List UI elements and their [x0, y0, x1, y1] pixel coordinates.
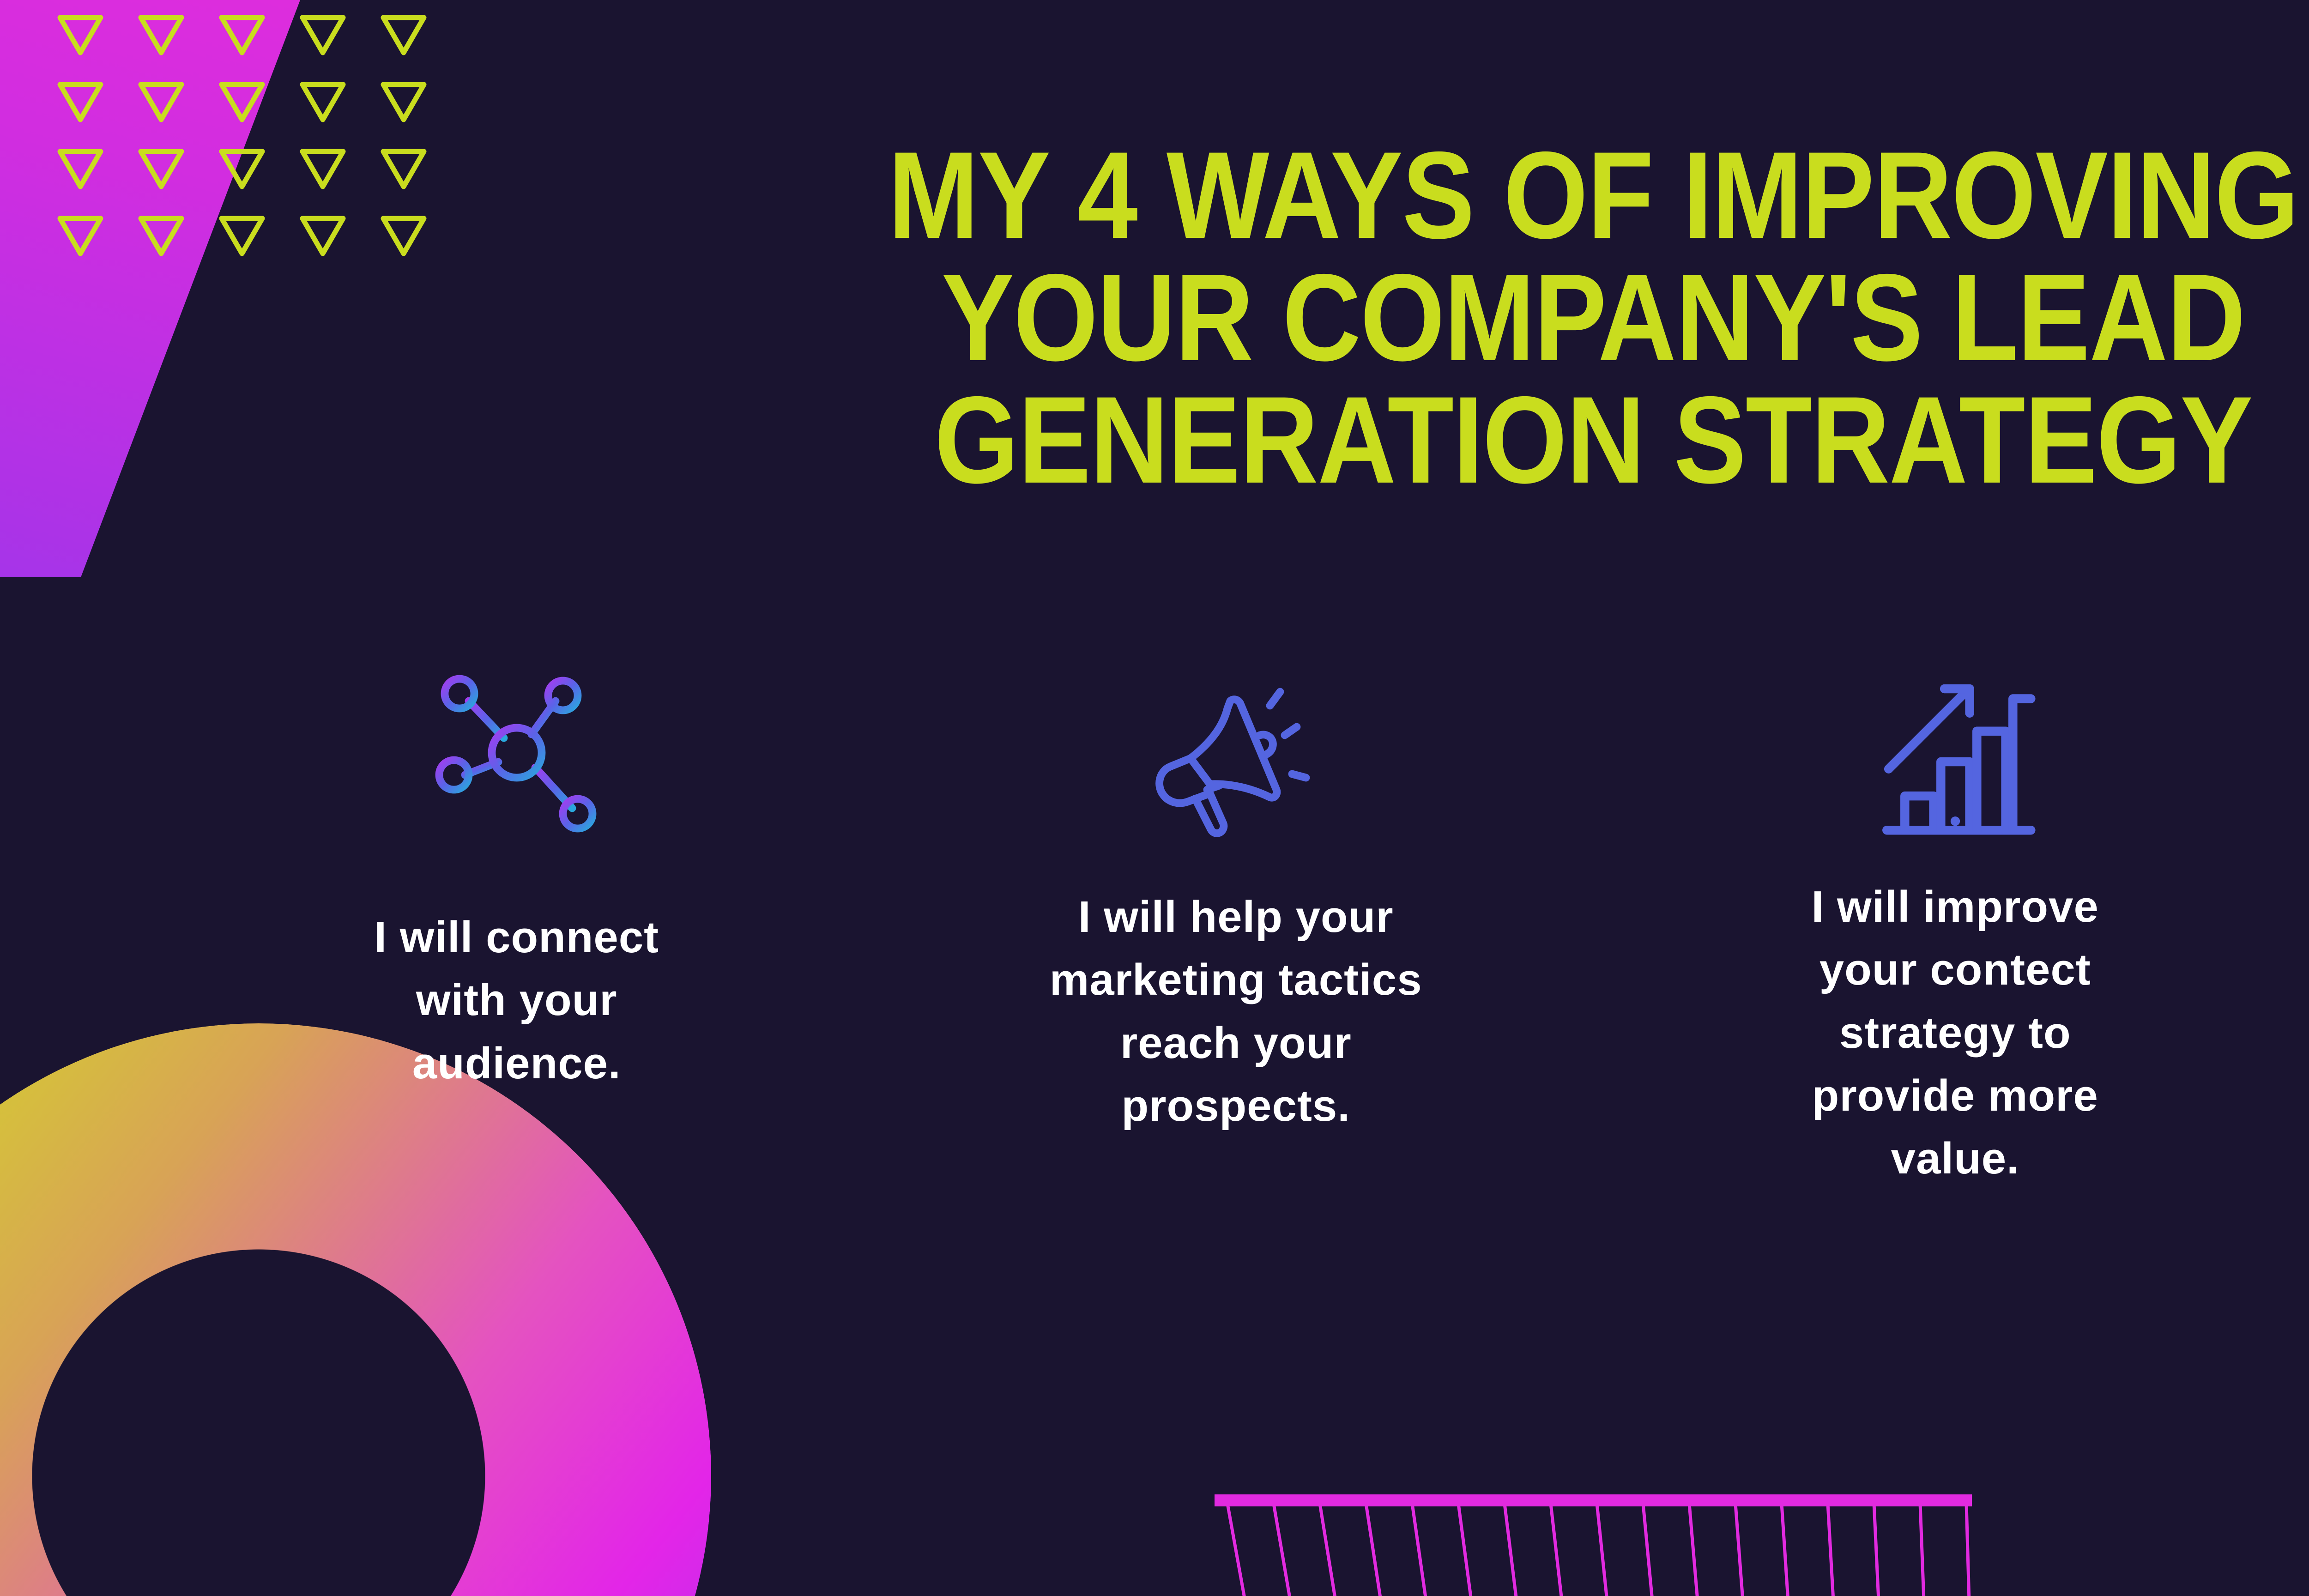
down-triangle-outline-icon [55, 14, 105, 56]
benefit-cards-row: I will connect with your audience. [157, 647, 2309, 1235]
down-triangle-outline-icon [136, 14, 186, 56]
network-nodes-icon [424, 647, 609, 859]
down-triangle-outline-icon [136, 215, 186, 257]
benefit-card-text: I will improve your contect strategy to … [1773, 876, 2138, 1191]
top-left-magenta-wedge [0, 0, 531, 577]
infographic-poster: MY 4 WAYS OF IMPROVING YOUR COMPANY'S LE… [0, 0, 2309, 1596]
down-triangle-outline-icon [217, 81, 267, 123]
down-triangle-outline-icon [379, 81, 429, 123]
bottom-center-comb-pattern [1215, 1485, 2009, 1596]
down-triangle-outline-icon [136, 148, 186, 190]
comb-bar [1215, 1494, 1972, 1506]
megaphone-icon [1143, 647, 1328, 859]
benefit-card-text: I will help your marketing tactics reach… [1030, 886, 1441, 1137]
benefit-card: I will connect with your audience. [157, 647, 876, 1235]
down-triangle-outline-icon [55, 215, 105, 257]
down-triangle-outline-icon [217, 215, 267, 257]
down-triangle-outline-icon [379, 14, 429, 56]
page-title: MY 4 WAYS OF IMPROVING YOUR COMPANY'S LE… [659, 134, 2309, 502]
down-triangle-outline-icon [55, 81, 105, 123]
down-triangle-outline-icon [217, 14, 267, 56]
down-triangle-outline-icon [379, 215, 429, 257]
down-triangle-outline-icon [298, 14, 348, 56]
down-triangle-outline-icon [298, 215, 348, 257]
down-triangle-outline-icon [136, 81, 186, 123]
benefit-card: I will help your marketing tactics reach… [876, 647, 1596, 1235]
down-triangle-outline-icon [55, 148, 105, 190]
comb-stripes [1215, 1504, 2009, 1596]
down-triangle-outline-icon [298, 81, 348, 123]
down-triangle-outline-icon [379, 148, 429, 190]
top-left-outline-triangle-grid [55, 14, 517, 291]
down-triangle-outline-icon [298, 148, 348, 190]
down-triangle-outline-icon [217, 148, 267, 190]
benefit-card: I will improve your contect strategy to … [1596, 647, 2309, 1235]
growth-bar-chart-icon [1865, 647, 2045, 859]
benefit-card-text: I will connect with your audience. [334, 906, 699, 1095]
